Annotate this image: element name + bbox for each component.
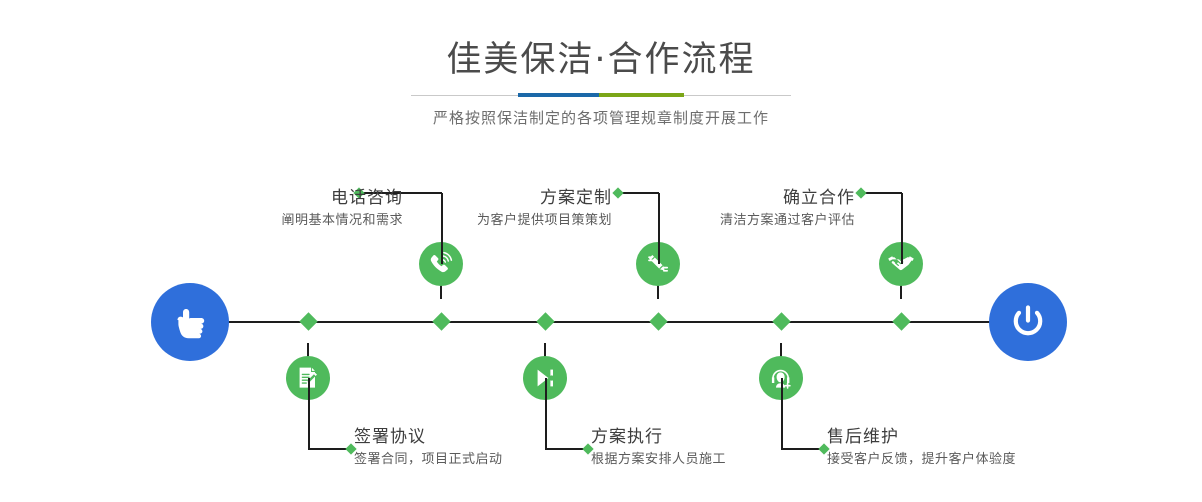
power-icon	[1005, 299, 1051, 345]
page-title: 佳美保洁·合作流程	[0, 38, 1202, 82]
node-4-diamond	[536, 312, 554, 330]
node-2-connector-horizontal	[308, 448, 350, 450]
node-4-connector-horizontal	[545, 448, 587, 450]
start-endpoint[interactable]	[151, 283, 229, 361]
page-subtitle: 严格按照保洁制定的各项管理规章制度开展工作	[0, 105, 1202, 131]
label-step-5-desc: 清洁方案通过客户评估	[570, 210, 855, 232]
end-endpoint[interactable]	[989, 283, 1067, 361]
label-step-6: 售后维护 接受客户反馈，提升客户体验度	[827, 425, 1157, 471]
label-step-5: 确立合作 清洁方案通过客户评估	[570, 186, 855, 232]
node-5-diamond	[892, 312, 910, 330]
flow-diagram-root: 佳美保洁·合作流程 严格按照保洁制定的各项管理规章制度开展工作	[0, 0, 1202, 502]
label-step-6-desc: 接受客户反馈，提升客户体验度	[827, 449, 1157, 471]
node-1-diamond	[432, 312, 450, 330]
node-5-connector-horizontal	[861, 192, 902, 194]
node-6-connector-horizontal	[781, 448, 823, 450]
node-5-connector-vertical	[901, 193, 903, 264]
node-6-diamond	[772, 312, 790, 330]
node-3-diamond	[649, 312, 667, 330]
hand-pointing-right-icon	[168, 300, 212, 344]
label-step-5-title: 确立合作	[570, 186, 855, 210]
node-4-connector-vertical	[545, 378, 547, 449]
node-2-connector-vertical	[308, 378, 310, 449]
divider-blue-segment	[518, 93, 599, 97]
node-5-connector-dot	[855, 187, 866, 198]
node-2-diamond	[299, 312, 317, 330]
divider-green-segment	[599, 93, 684, 97]
title-divider	[411, 93, 791, 97]
node-6-connector-vertical	[781, 378, 783, 449]
label-step-6-title: 售后维护	[827, 425, 1157, 449]
